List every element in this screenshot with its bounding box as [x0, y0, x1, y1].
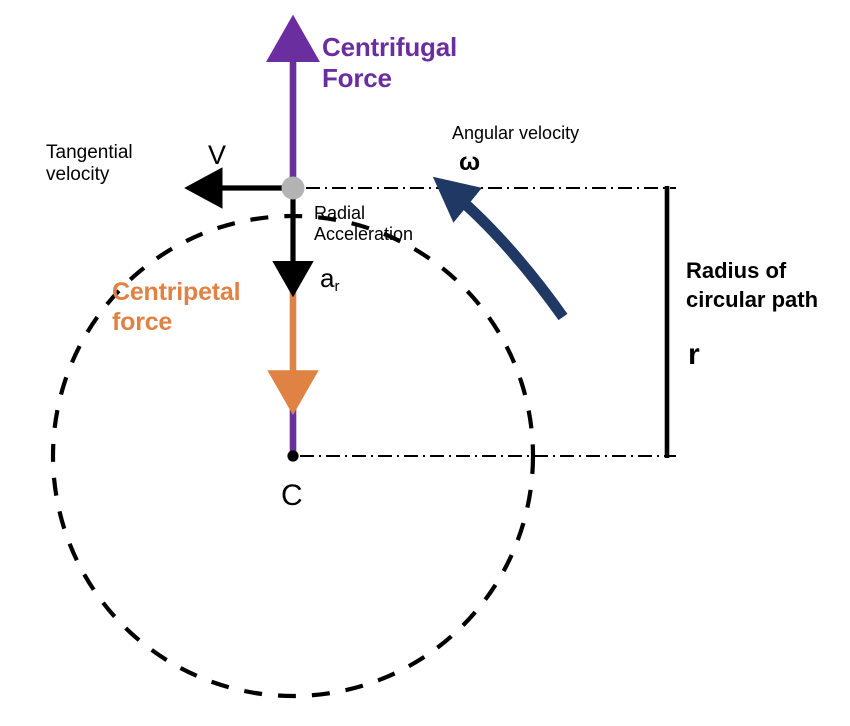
- center-point-label: C: [281, 478, 303, 513]
- radial-acceleration-symbol-subscript: r: [334, 278, 339, 295]
- velocity-symbol-label: V: [208, 140, 226, 172]
- centripetal-force-label: Centripetal force: [112, 278, 240, 337]
- tangential-velocity-label: Tangential velocity: [46, 142, 133, 187]
- angular-velocity-label: Angular velocity: [452, 123, 579, 144]
- radius-caption-label: Radius of circular path: [686, 256, 818, 314]
- radial-acceleration-symbol-base: a: [320, 263, 334, 293]
- circular-motion-diagram: Centrifugal Force Centripetal force Tang…: [0, 0, 850, 726]
- diagram-canvas: [0, 0, 850, 726]
- angular-velocity-symbol-label: ω: [459, 148, 480, 178]
- particle-marker: [282, 177, 305, 200]
- radial-acceleration-label: Radial Acceleration: [314, 203, 413, 245]
- centrifugal-force-label: Centrifugal Force: [322, 32, 457, 93]
- angular-velocity-arrow: [449, 190, 563, 317]
- radius-symbol-label: r: [688, 337, 700, 372]
- center-point-marker: [287, 450, 298, 461]
- radial-acceleration-symbol: ar: [320, 263, 340, 294]
